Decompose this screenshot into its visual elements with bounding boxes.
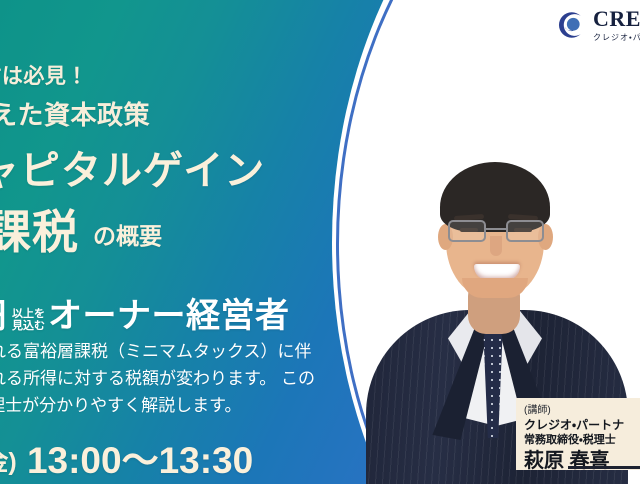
portrait-chin	[462, 278, 528, 298]
schedule-time: 13:00〜13:30	[27, 440, 253, 481]
schedule-day-of-week: (金)	[0, 448, 17, 476]
description-line-2: で得られる所得に対する税額が変わります。 この	[0, 365, 315, 392]
logo-wordmark: CREGIO クレジオ・パートナーズ	[593, 8, 640, 42]
speaker-info-card: (講師) クレジオ・パートナ 常務取締役・税理士 萩原 春喜	[516, 398, 640, 470]
headline-line-1: キャピタルゲイン	[0, 138, 265, 196]
glasses-lens-left	[448, 220, 486, 242]
speaker-role-label: (講師)	[524, 404, 640, 417]
target-amount: 億円	[0, 288, 7, 337]
target-ruby-top: 以上を	[12, 308, 45, 320]
glasses-lens-right	[506, 220, 544, 242]
target-ruby-bottom: 見込む	[12, 320, 45, 332]
speaker-card-underline	[568, 466, 640, 469]
glasses-bridge	[486, 228, 506, 230]
target-audience-line: 億円 以上を 見込む オーナー経営者	[0, 288, 290, 337]
subhead-text: 見据えた資本政策	[0, 95, 150, 132]
description-text: 改正される富裕層課税（ミニマムタックス）に伴 で得られる所得に対する税額が変わり…	[0, 338, 315, 419]
headline-line-2-suffix: の概要	[93, 223, 162, 249]
speaker-company: クレジオ・パートナ	[524, 417, 640, 433]
cregio-swirl-logo-icon	[556, 10, 586, 40]
headline-line-2-main: ％課税	[0, 206, 79, 258]
kicker-text: える方は必見！	[0, 60, 88, 90]
portrait-nose	[490, 236, 502, 256]
target-ruby: 以上を 見込む	[12, 308, 45, 332]
logo-name: CREGIO	[593, 8, 640, 30]
schedule-line: 日(金) 13:00〜13:30	[0, 430, 253, 484]
brand-logo: CREGIO クレジオ・パートナーズ	[556, 8, 640, 42]
speaker-title: 常務取締役・税理士	[524, 433, 640, 448]
logo-kana: クレジオ・パートナーズ	[593, 34, 640, 42]
description-line-3: て、税理士が分かりやすく解説します。	[0, 392, 315, 419]
target-audience-text: オーナー経営者	[48, 288, 290, 337]
webinar-poster: CREGIO クレジオ・パートナーズ える方は必見！ 見据えた資本政策 キャピタ…	[0, 0, 640, 484]
description-line-1: 改正される富裕層課税（ミニマムタックス）に伴	[0, 338, 315, 365]
headline-line-2: ％課税の概要	[0, 196, 162, 262]
